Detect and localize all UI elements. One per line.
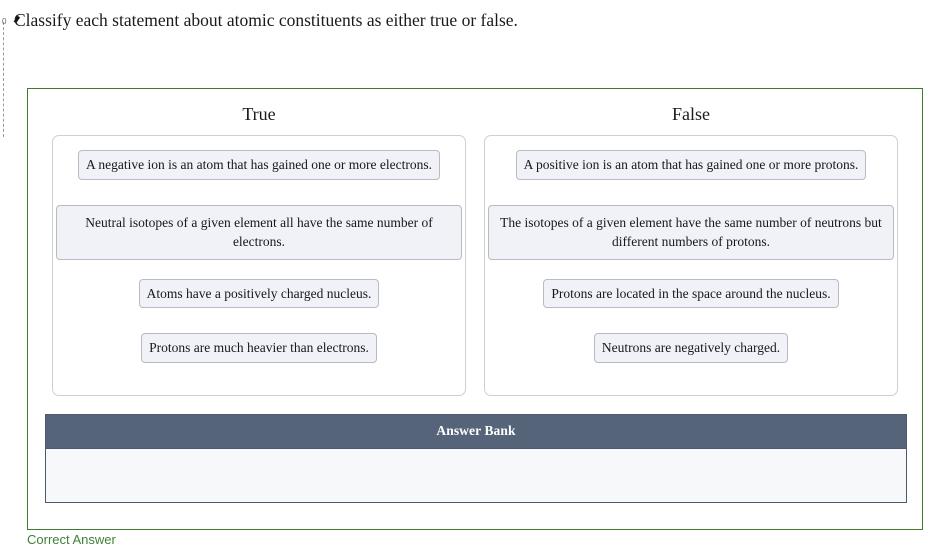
answer-tile[interactable]: Atoms have a positively charged nucleus.: [139, 279, 380, 309]
classification-column-false: False A positive ion is an atom that has…: [484, 105, 898, 396]
column-header-false: False: [484, 105, 898, 135]
left-edge-rail: [3, 22, 5, 137]
question-frame: True A negative ion is an atom that has …: [27, 88, 923, 530]
dropzone-true[interactable]: A negative ion is an atom that has gaine…: [52, 135, 466, 396]
answer-bank-title: Answer Bank: [46, 415, 906, 448]
answer-bank: Answer Bank: [45, 414, 907, 503]
answer-tile[interactable]: The isotopes of a given element have the…: [488, 205, 894, 260]
answer-bank-dropzone[interactable]: [46, 448, 906, 502]
answer-tile[interactable]: A positive ion is an atom that has gaine…: [516, 150, 867, 180]
left-edge-rail-glyph: 0: [2, 18, 6, 26]
correct-answer-label: Correct Answer: [27, 531, 116, 549]
dropzone-false[interactable]: A positive ion is an atom that has gaine…: [484, 135, 898, 396]
answer-tile[interactable]: A negative ion is an atom that has gaine…: [78, 150, 440, 180]
answer-tile[interactable]: Protons are located in the space around …: [543, 279, 838, 309]
answer-tile[interactable]: Neutral isotopes of a given element all …: [56, 205, 462, 260]
answer-tile[interactable]: Protons are much heavier than electrons.: [141, 333, 377, 363]
classification-column-true: True A negative ion is an atom that has …: [52, 105, 466, 396]
page-title: Classify each statement about atomic con…: [14, 9, 518, 32]
column-header-true: True: [52, 105, 466, 135]
classification-columns: True A negative ion is an atom that has …: [28, 89, 922, 396]
answer-tile[interactable]: Neutrons are negatively charged.: [594, 333, 788, 363]
